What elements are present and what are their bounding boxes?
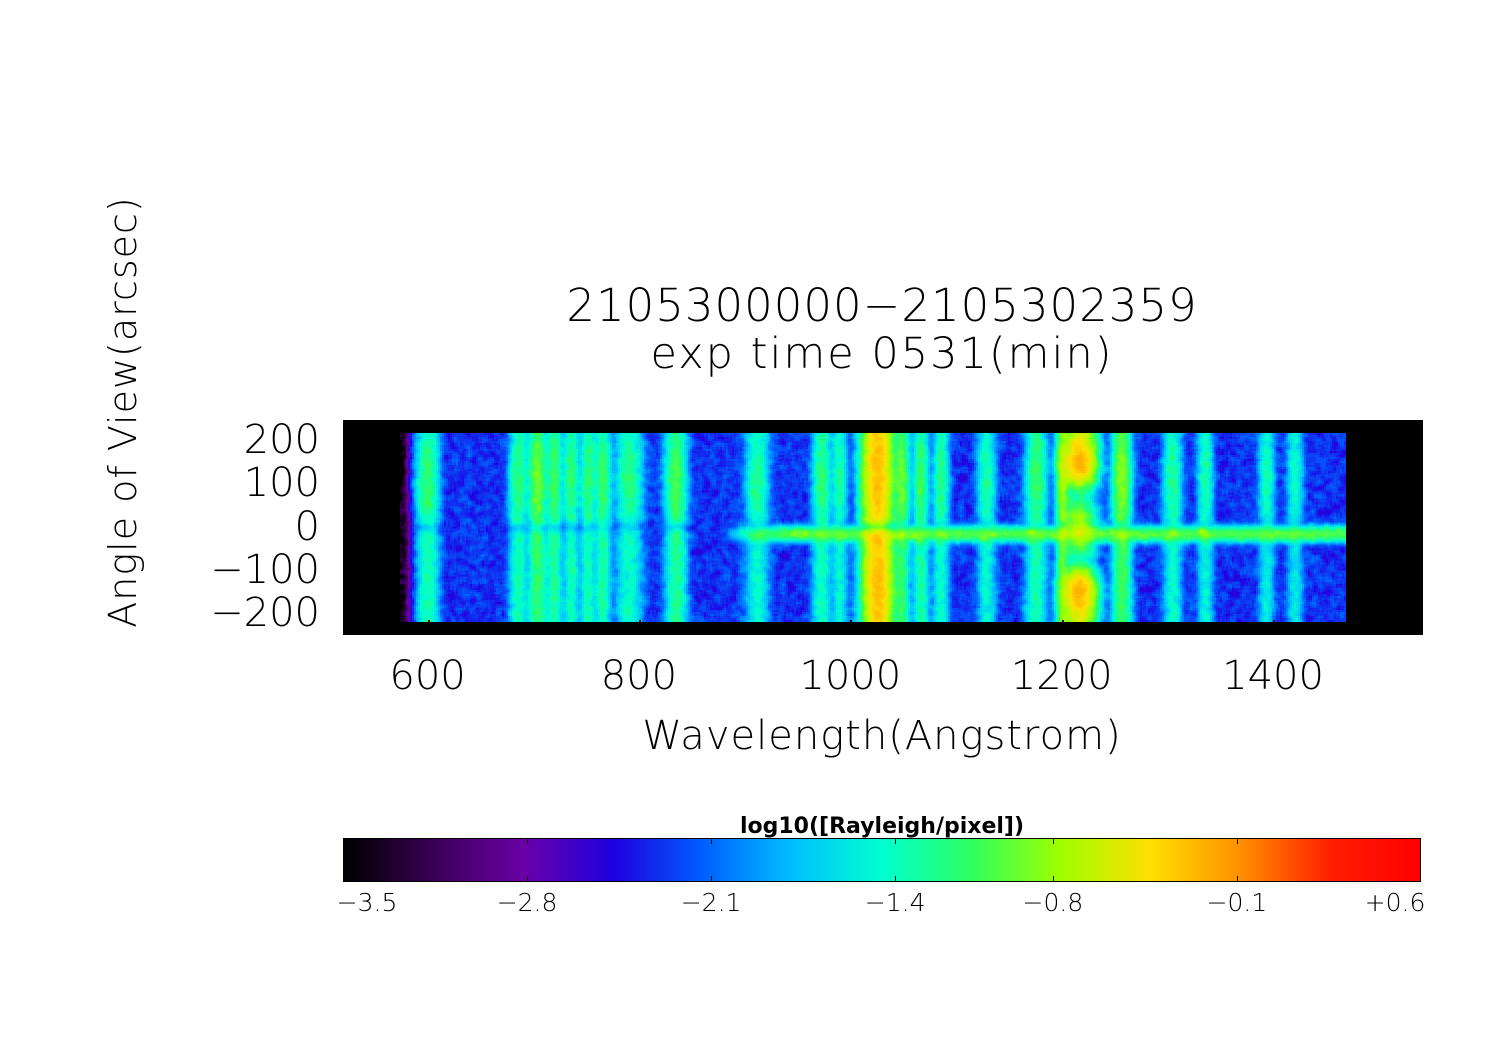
- x-minor-tick-top: [375, 420, 377, 427]
- y-minor-tick-right: [1414, 448, 1421, 450]
- colorbar-tick-label: −2.8: [497, 888, 558, 917]
- x-tick-label: 1200: [1011, 653, 1113, 699]
- colorbar-tick: [1053, 876, 1054, 882]
- x-major-tick: [428, 620, 430, 633]
- x-major-tick-top: [1273, 420, 1275, 433]
- y-minor-tick-right: [1414, 605, 1421, 607]
- y-minor-tick: [343, 579, 350, 581]
- y-minor-tick-right: [1414, 474, 1421, 476]
- x-major-tick: [850, 620, 852, 633]
- x-major-tick-top: [639, 420, 641, 433]
- y-tick-label: 0: [295, 504, 320, 550]
- colorbar-tick-label: −3.5: [337, 888, 398, 917]
- y-minor-tick-right: [1414, 509, 1421, 511]
- y-minor-tick-right: [1414, 596, 1421, 598]
- y-minor-tick-right: [1414, 587, 1421, 589]
- x-minor-tick: [903, 626, 905, 633]
- x-major-tick: [1273, 620, 1275, 633]
- y-tick-label: −100: [210, 547, 320, 593]
- y-major-tick-right: [1408, 527, 1421, 529]
- x-minor-tick-top: [692, 420, 694, 427]
- y-minor-tick: [343, 587, 350, 589]
- colorbar-tick-marks: [343, 838, 1421, 882]
- y-minor-tick-right: [1414, 622, 1421, 624]
- y-major-tick: [343, 570, 356, 572]
- y-minor-tick-right: [1414, 466, 1421, 468]
- y-minor-tick: [343, 553, 350, 555]
- x-minor-tick: [797, 626, 799, 633]
- x-minor-tick-top: [903, 420, 905, 427]
- y-minor-tick-right: [1414, 492, 1421, 494]
- y-minor-tick-right: [1414, 500, 1421, 502]
- y-tick-label: 200: [244, 417, 320, 463]
- y-minor-tick: [343, 544, 350, 546]
- y-minor-tick: [343, 466, 350, 468]
- y-minor-tick-right: [1414, 561, 1421, 563]
- y-minor-tick-right: [1414, 457, 1421, 459]
- x-minor-tick: [533, 626, 535, 633]
- y-minor-tick: [343, 605, 350, 607]
- y-minor-tick: [343, 596, 350, 598]
- y-minor-tick-right: [1414, 422, 1421, 424]
- colorbar-tick-label: −0.1: [1207, 888, 1268, 917]
- x-tick-label: 1000: [799, 653, 901, 699]
- spectrogram-image: [344, 421, 1422, 634]
- x-major-tick-top: [1062, 420, 1064, 433]
- y-minor-tick: [343, 431, 350, 433]
- x-minor-tick-top: [745, 420, 747, 427]
- y-axis-tick-labels: 2001000−100−200: [110, 420, 332, 633]
- y-major-tick-right: [1408, 483, 1421, 485]
- colorbar-tick: [895, 876, 896, 882]
- y-major-tick-right: [1408, 440, 1421, 442]
- colorbar-tick: [527, 838, 528, 844]
- y-minor-tick: [343, 457, 350, 459]
- y-minor-tick: [343, 518, 350, 520]
- y-major-tick: [343, 440, 356, 442]
- colorbar-tick: [1053, 838, 1054, 844]
- x-axis-title: Wavelength(Angstrom): [343, 713, 1421, 759]
- y-major-tick-right: [1408, 613, 1421, 615]
- title-line-exposure-time: exp time 0531(min): [343, 331, 1421, 377]
- x-minor-tick: [480, 626, 482, 633]
- colorbar-tick: [711, 838, 712, 844]
- x-tick-label: 1400: [1222, 653, 1324, 699]
- colorbar-tick: [711, 876, 712, 882]
- x-minor-tick: [375, 626, 377, 633]
- y-minor-tick-right: [1414, 553, 1421, 555]
- y-minor-tick: [343, 535, 350, 537]
- x-tick-label: 800: [601, 653, 677, 699]
- colorbar-tick-label: −2.1: [681, 888, 742, 917]
- plot-area: [343, 420, 1423, 635]
- y-major-tick: [343, 527, 356, 529]
- y-tick-label: 100: [244, 460, 320, 506]
- y-minor-tick: [343, 631, 350, 633]
- colorbar-title: log10([Rayleigh/pixel]): [343, 814, 1421, 839]
- x-major-tick: [639, 620, 641, 633]
- colorbar-tick: [1237, 838, 1238, 844]
- x-major-tick-top: [428, 420, 430, 433]
- x-minor-tick-top: [797, 420, 799, 427]
- x-tick-label: 600: [389, 653, 465, 699]
- colorbar-tick-labels: −3.5−2.8−2.1−1.4−0.8−0.1+0.6: [343, 888, 1421, 928]
- x-major-tick: [1062, 620, 1064, 633]
- colorbar-tick-label: −1.4: [865, 888, 926, 917]
- x-minor-tick: [692, 626, 694, 633]
- colorbar-tick-label: −0.8: [1023, 888, 1084, 917]
- colorbar-tick: [527, 876, 528, 882]
- y-minor-tick: [343, 474, 350, 476]
- x-minor-tick: [956, 626, 958, 633]
- x-axis-tick-labels: 600800100012001400: [343, 653, 1421, 703]
- y-minor-tick: [343, 561, 350, 563]
- y-major-tick: [343, 613, 356, 615]
- x-minor-tick: [1009, 626, 1011, 633]
- y-minor-tick: [343, 448, 350, 450]
- y-minor-tick-right: [1414, 518, 1421, 520]
- y-major-tick-right: [1408, 570, 1421, 572]
- x-minor-tick-top: [956, 420, 958, 427]
- y-minor-tick-right: [1414, 544, 1421, 546]
- y-minor-tick: [343, 622, 350, 624]
- x-minor-tick: [745, 626, 747, 633]
- y-minor-tick: [343, 422, 350, 424]
- y-major-tick: [343, 483, 356, 485]
- colorbar-tick: [895, 838, 896, 844]
- y-minor-tick: [343, 500, 350, 502]
- y-minor-tick-right: [1414, 431, 1421, 433]
- x-major-tick-top: [850, 420, 852, 433]
- x-minor-tick-top: [586, 420, 588, 427]
- spectrogram-canvas: [344, 421, 1422, 634]
- figure-title: 2105300000−2105302359 exp time 0531(min): [343, 282, 1421, 377]
- y-tick-label: −200: [210, 590, 320, 636]
- y-minor-tick: [343, 492, 350, 494]
- x-minor-tick-top: [1009, 420, 1011, 427]
- colorbar-tick: [1237, 876, 1238, 882]
- x-minor-tick: [586, 626, 588, 633]
- x-minor-tick-top: [480, 420, 482, 427]
- y-minor-tick-right: [1414, 579, 1421, 581]
- colorbar-tick-label: +0.6: [1365, 888, 1426, 917]
- y-minor-tick-right: [1414, 631, 1421, 633]
- spectrogram-figure: 2105300000−2105302359 exp time 0531(min)…: [0, 0, 1497, 1058]
- title-line-observation-id: 2105300000−2105302359: [343, 282, 1421, 331]
- y-minor-tick-right: [1414, 535, 1421, 537]
- y-minor-tick: [343, 509, 350, 511]
- x-minor-tick-top: [533, 420, 535, 427]
